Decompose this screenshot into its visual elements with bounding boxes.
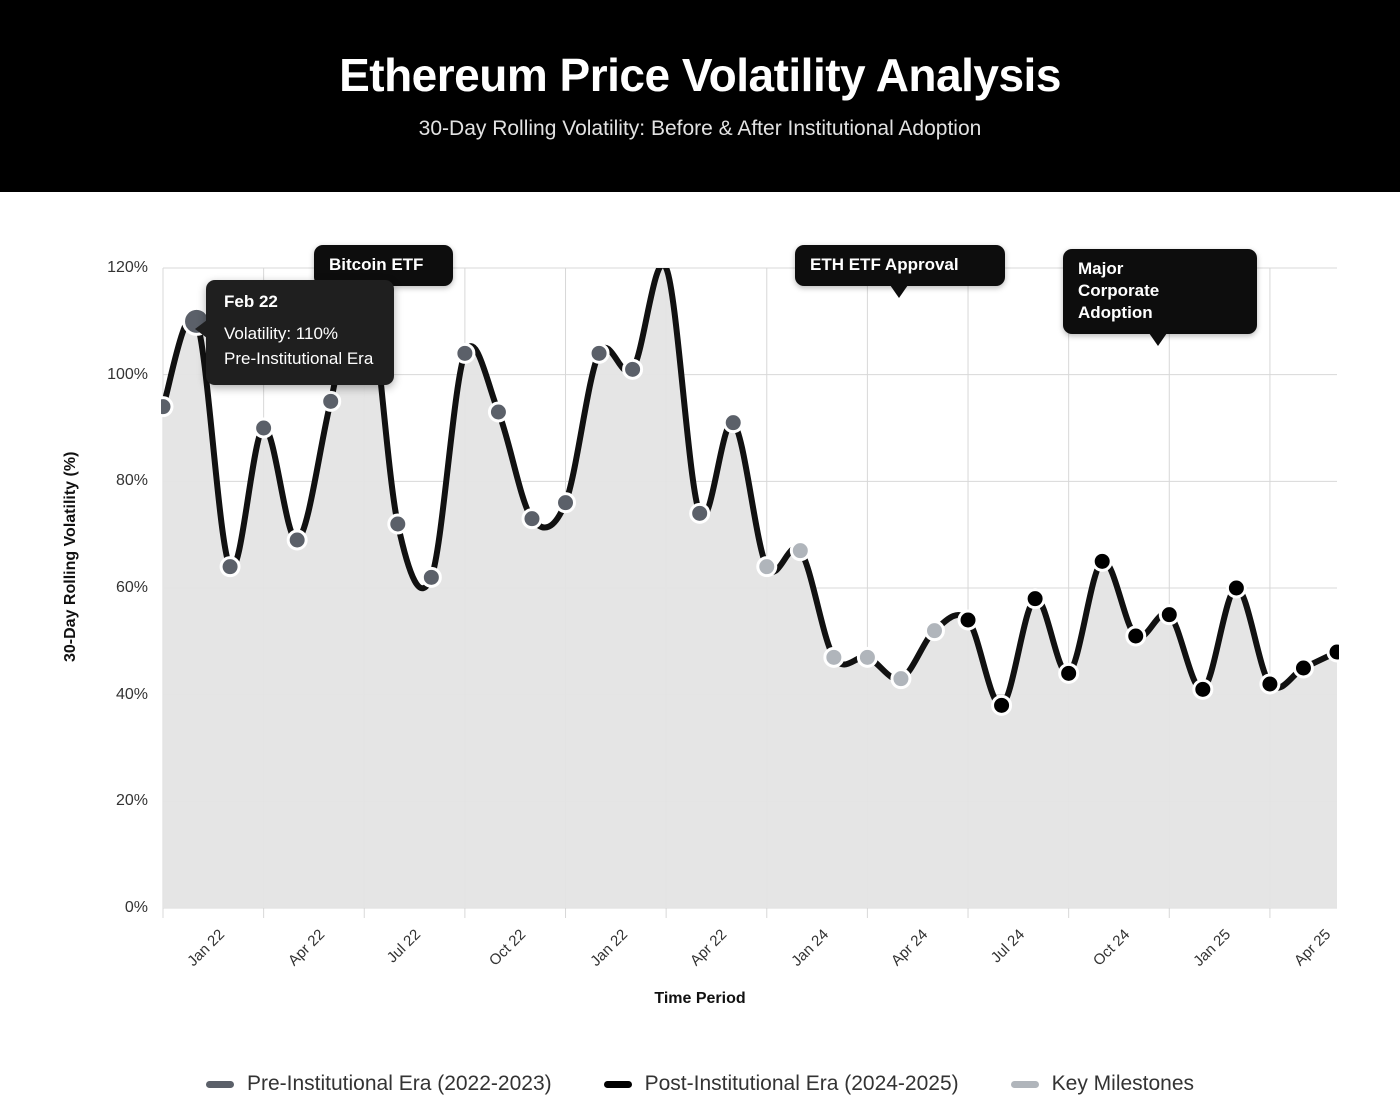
data-point-marker[interactable] xyxy=(791,542,809,560)
chart-container: 30-Day Rolling Volatility (%) Time Perio… xyxy=(0,192,1400,1120)
page-subtitle: 30-Day Rolling Volatility: Before & Afte… xyxy=(419,117,982,141)
data-point-marker[interactable] xyxy=(422,568,440,586)
data-point-marker[interactable] xyxy=(691,504,709,522)
legend-line-swatch-icon xyxy=(604,1081,632,1088)
legend-line-swatch-icon xyxy=(206,1081,234,1088)
callout-pointer-icon xyxy=(1149,333,1167,346)
data-point-marker[interactable] xyxy=(456,344,474,362)
data-point-marker[interactable] xyxy=(523,510,541,528)
data-point-marker[interactable] xyxy=(993,696,1011,714)
legend-line-swatch-icon xyxy=(1011,1081,1039,1088)
data-point-marker[interactable] xyxy=(389,515,407,533)
data-point-marker[interactable] xyxy=(724,414,742,432)
chart-legend: Pre-Institutional Era (2022-2023)Post-In… xyxy=(0,1062,1400,1106)
data-point-marker[interactable] xyxy=(1227,579,1245,597)
legend-item-label: Key Milestones xyxy=(1052,1072,1194,1096)
data-point-marker[interactable] xyxy=(557,494,575,512)
tooltip-era-label: Pre-Institutional Era xyxy=(224,347,376,372)
milestone-callout-eth-etf-approval: ETH ETF Approval xyxy=(795,245,1005,286)
legend-item-0[interactable]: Pre-Institutional Era (2022-2023) xyxy=(206,1072,552,1096)
data-point-marker[interactable] xyxy=(925,622,943,640)
data-point-marker[interactable] xyxy=(1328,643,1346,661)
data-point-marker[interactable] xyxy=(1261,675,1279,693)
data-point-marker[interactable] xyxy=(288,531,306,549)
data-point-marker[interactable] xyxy=(1127,627,1145,645)
data-point-marker[interactable] xyxy=(624,360,642,378)
data-point-marker[interactable] xyxy=(590,344,608,362)
legend-item-label: Pre-Institutional Era (2022-2023) xyxy=(247,1072,552,1096)
legend-item-1[interactable]: Post-Institutional Era (2024-2025) xyxy=(604,1072,959,1096)
tooltip-title: Feb 22 xyxy=(224,292,376,312)
data-point-marker[interactable] xyxy=(154,398,172,416)
chart-header: Ethereum Price Volatility Analysis 30-Da… xyxy=(0,0,1400,192)
milestone-callout-major-corporate-adoption: Major Corporate Adoption xyxy=(1063,249,1257,334)
data-point-marker[interactable] xyxy=(1194,680,1212,698)
legend-item-2[interactable]: Key Milestones xyxy=(1011,1072,1194,1096)
tooltip-volatility-value: Volatility: 110% xyxy=(224,322,376,347)
milestone-callout-label: Bitcoin ETF xyxy=(329,255,423,274)
data-point-marker[interactable] xyxy=(892,670,910,688)
callout-pointer-icon xyxy=(890,285,908,298)
data-point-marker[interactable] xyxy=(825,648,843,666)
milestone-callout-label: ETH ETF Approval xyxy=(810,255,959,274)
tooltip-pointer-icon xyxy=(195,320,207,338)
data-point-tooltip: Feb 22 Volatility: 110% Pre-Institutiona… xyxy=(206,280,394,385)
data-point-marker[interactable] xyxy=(959,611,977,629)
data-point-marker[interactable] xyxy=(1093,552,1111,570)
data-point-marker[interactable] xyxy=(322,392,340,410)
data-point-marker[interactable] xyxy=(489,403,507,421)
data-point-marker[interactable] xyxy=(1026,590,1044,608)
data-point-marker[interactable] xyxy=(221,558,239,576)
data-point-marker[interactable] xyxy=(1294,659,1312,677)
page-title: Ethereum Price Volatility Analysis xyxy=(339,51,1061,99)
legend-item-label: Post-Institutional Era (2024-2025) xyxy=(645,1072,959,1096)
data-point-marker[interactable] xyxy=(1060,664,1078,682)
milestone-callout-label: Major Corporate Adoption xyxy=(1078,259,1159,322)
data-point-marker[interactable] xyxy=(1160,606,1178,624)
data-point-marker[interactable] xyxy=(255,419,273,437)
data-point-marker[interactable] xyxy=(858,648,876,666)
data-point-marker[interactable] xyxy=(758,558,776,576)
